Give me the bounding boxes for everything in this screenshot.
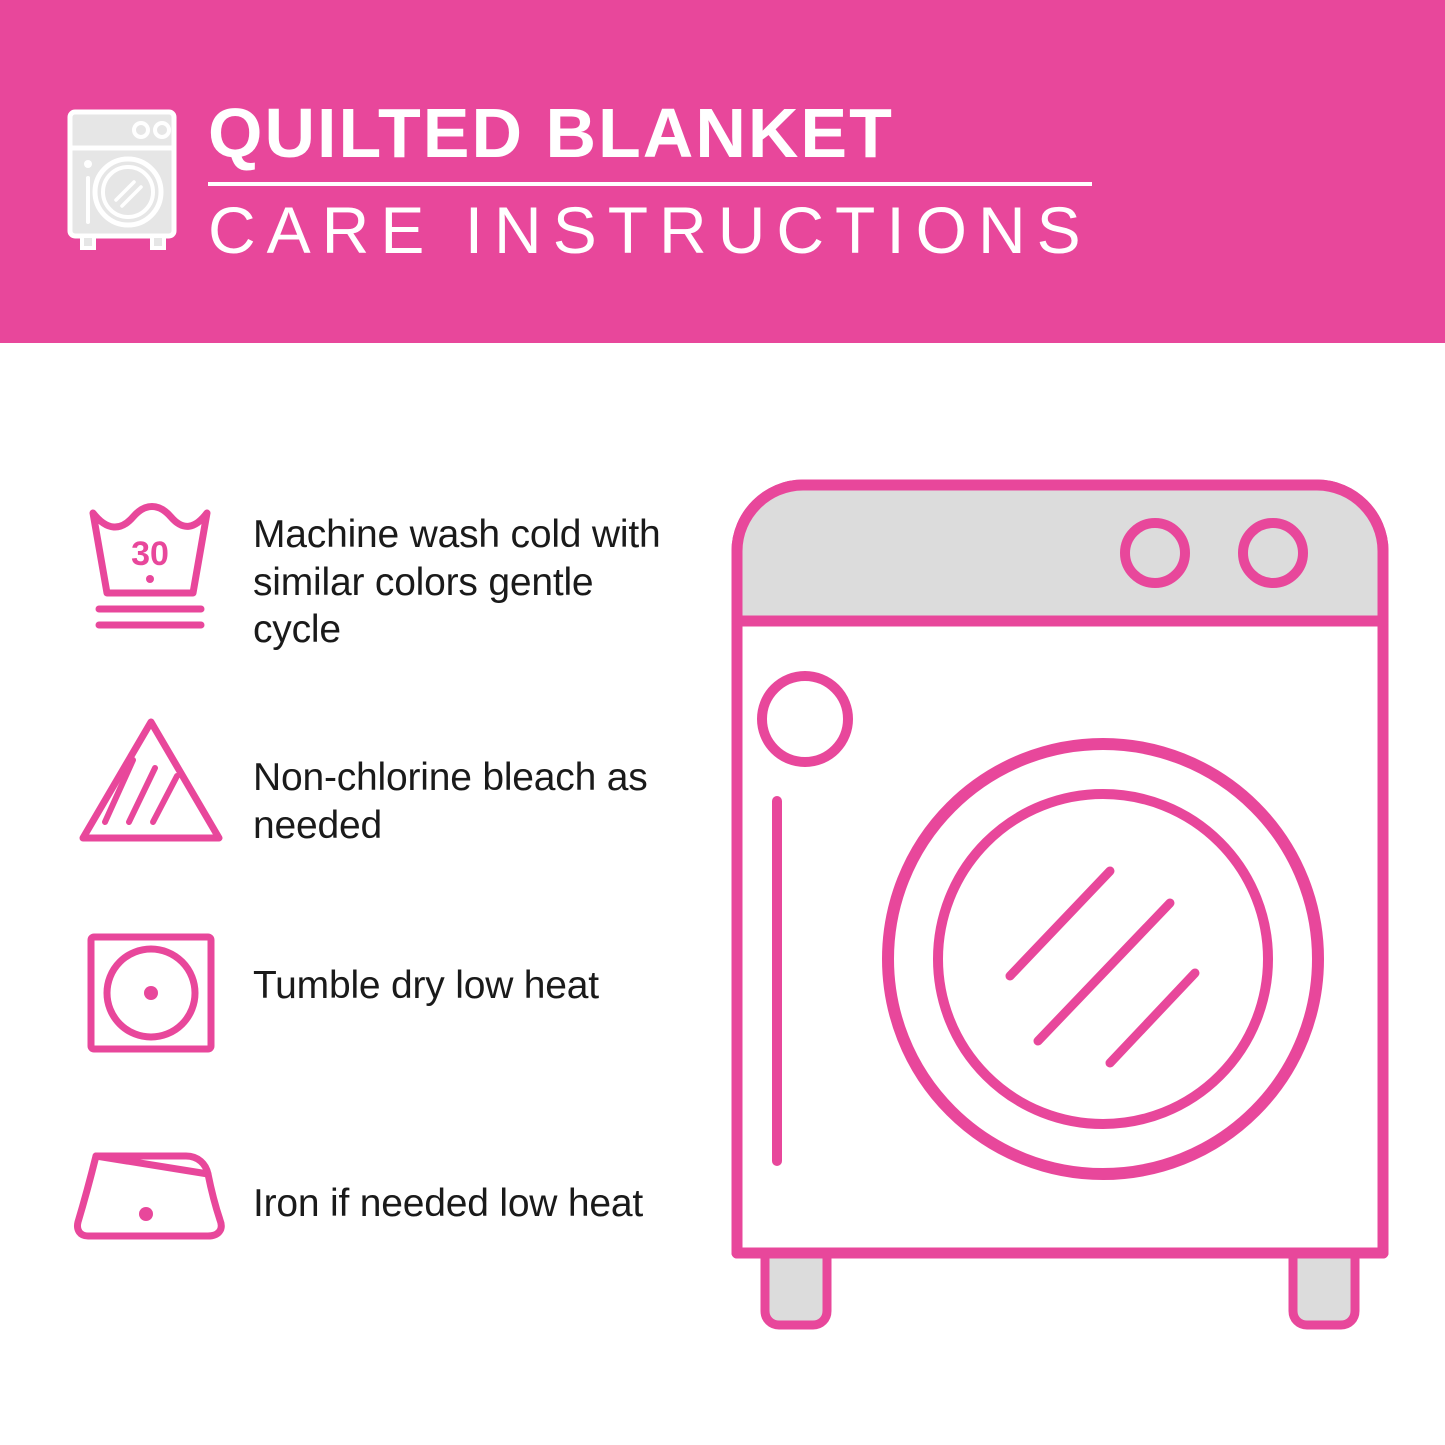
iron-low-heat-icon — [68, 1130, 233, 1256]
care-item-tumble-dry: Tumble dry low heat — [68, 917, 688, 1130]
page-title: QUILTED BLANKET — [208, 98, 1092, 176]
tumble-dry-low-icon — [68, 917, 233, 1063]
care-item-label: Tumble dry low heat — [233, 917, 688, 1010]
care-item-label: Iron if needed low heat — [233, 1130, 688, 1228]
care-item-label: Machine wash cold with similar colors ge… — [233, 491, 688, 654]
care-item-bleach: Non-chlorine bleach as needed — [68, 704, 688, 917]
washing-machine-icon — [62, 106, 190, 251]
non-chlorine-bleach-triangle-icon — [68, 704, 233, 850]
care-item-machine-wash: 30 Machine wash cold with similar colors… — [68, 491, 688, 704]
care-item-label: Non-chlorine bleach as needed — [233, 704, 688, 849]
header-title-group: QUILTED BLANKET CARE INSTRUCTIONS — [208, 98, 1092, 265]
title-divider — [208, 182, 1092, 186]
care-item-iron: Iron if needed low heat — [68, 1130, 688, 1343]
care-instructions-list: 30 Machine wash cold with similar colors… — [68, 491, 688, 1343]
header-content: QUILTED BLANKET CARE INSTRUCTIONS — [62, 98, 1092, 265]
wash-basin-30-icon: 30 — [68, 491, 233, 637]
page-subtitle: CARE INSTRUCTIONS — [208, 196, 1092, 265]
content-area: 30 Machine wash cold with similar colors… — [0, 343, 1445, 1445]
large-washing-machine-illustration — [715, 471, 1405, 1361]
svg-text:30: 30 — [131, 535, 169, 573]
header-banner: QUILTED BLANKET CARE INSTRUCTIONS — [0, 0, 1445, 343]
